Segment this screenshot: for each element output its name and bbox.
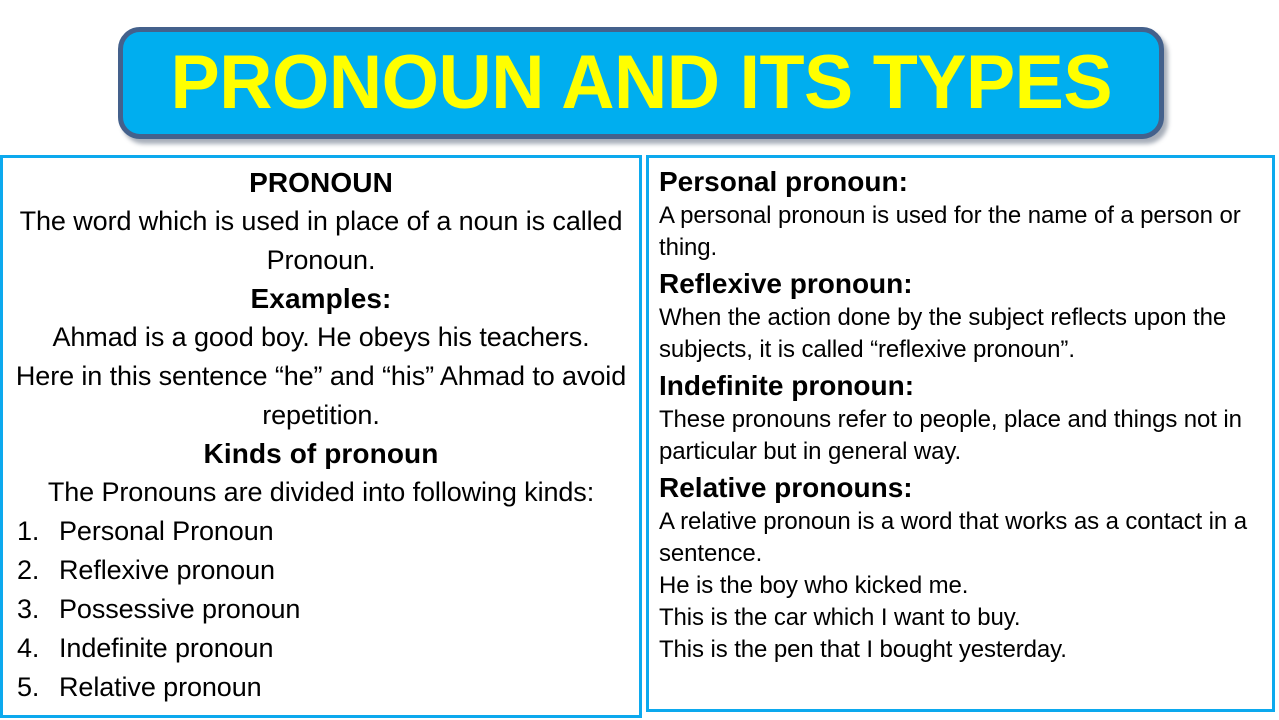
personal-pronoun-section: Personal pronoun: A personal pronoun is … <box>659 164 1262 264</box>
indefinite-pronoun-heading: Indefinite pronoun: <box>659 368 1262 404</box>
list-item: 4. Indefinite pronoun <box>11 629 631 668</box>
list-item-number: 5. <box>11 668 59 707</box>
relative-example-1: He is the boy who kicked me. <box>659 570 1262 602</box>
kinds-intro-text: The Pronouns are divided into following … <box>11 473 631 512</box>
list-item-label: Relative pronoun <box>59 668 262 707</box>
reflexive-pronoun-section: Reflexive pronoun: When the action done … <box>659 266 1262 366</box>
list-item-number: 4. <box>11 629 59 668</box>
reflexive-pronoun-body: When the action done by the subject refl… <box>659 302 1262 366</box>
list-item-number: 1. <box>11 512 59 551</box>
kinds-of-pronoun-list: 1. Personal Pronoun 2. Reflexive pronoun… <box>11 512 631 707</box>
indefinite-pronoun-section: Indefinite pronoun: These pronouns refer… <box>659 368 1262 468</box>
examples-heading: Examples: <box>11 280 631 318</box>
list-item-label: Possessive pronoun <box>59 590 300 629</box>
list-item-number: 3. <box>11 590 59 629</box>
example-sentence-2: Here in this sentence “he” and “his” Ahm… <box>11 357 631 435</box>
list-item: 5. Relative pronoun <box>11 668 631 707</box>
relative-pronoun-section: Relative pronouns: A relative pronoun is… <box>659 470 1262 666</box>
pronoun-definition: The word which is used in place of a nou… <box>11 202 631 280</box>
list-item-label: Personal Pronoun <box>59 512 274 551</box>
relative-example-3: This is the pen that I bought yesterday. <box>659 634 1262 666</box>
example-sentence-1: Ahmad is a good boy. He obeys his teache… <box>11 318 631 357</box>
list-item-label: Reflexive pronoun <box>59 551 275 590</box>
relative-pronoun-body: A relative pronoun is a word that works … <box>659 506 1262 570</box>
list-item: 2. Reflexive pronoun <box>11 551 631 590</box>
list-item: 3. Possessive pronoun <box>11 590 631 629</box>
personal-pronoun-heading: Personal pronoun: <box>659 164 1262 200</box>
left-content-panel: PRONOUN The word which is used in place … <box>0 155 642 718</box>
title-banner: PRONOUN AND ITS TYPES <box>118 27 1164 139</box>
list-item-label: Indefinite pronoun <box>59 629 273 668</box>
list-item-number: 2. <box>11 551 59 590</box>
indefinite-pronoun-body: These pronouns refer to people, place an… <box>659 404 1262 468</box>
infographic-page: PRONOUN AND ITS TYPES PRONOUN The word w… <box>0 0 1279 720</box>
list-item: 1. Personal Pronoun <box>11 512 631 551</box>
pronoun-heading: PRONOUN <box>11 164 631 202</box>
reflexive-pronoun-heading: Reflexive pronoun: <box>659 266 1262 302</box>
relative-example-2: This is the car which I want to buy. <box>659 602 1262 634</box>
right-content-panel: Personal pronoun: A personal pronoun is … <box>646 155 1275 712</box>
kinds-of-pronoun-heading: Kinds of pronoun <box>11 435 631 473</box>
personal-pronoun-body: A personal pronoun is used for the name … <box>659 200 1262 264</box>
relative-pronoun-heading: Relative pronouns: <box>659 470 1262 506</box>
page-title: PRONOUN AND ITS TYPES <box>170 44 1111 122</box>
